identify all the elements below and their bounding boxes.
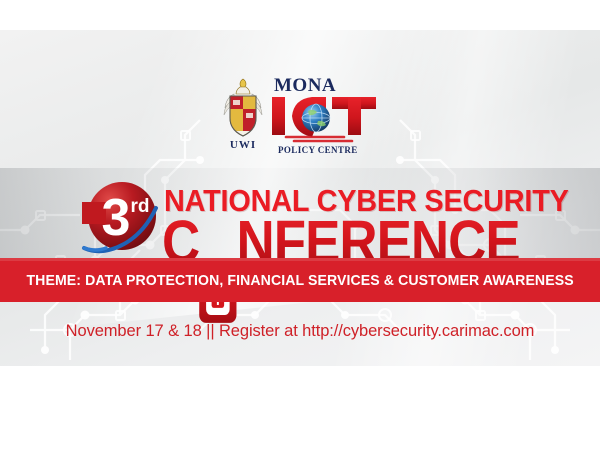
mona-ict-policy-centre-logo: UWI MONA: [0, 76, 600, 156]
headline: NATIONAL CYBER SECURITY CNFERENCE: [160, 164, 540, 268]
ict-letters: [268, 93, 380, 145]
svg-text:3: 3: [102, 189, 131, 247]
uwi-coat-of-arms-icon: UWI: [220, 76, 266, 152]
theme-text: THEME: DATA PROTECTION, FINANCIAL SERVIC…: [26, 272, 573, 289]
policy-centre-label: POLICY CENTRE: [278, 146, 358, 155]
svg-text:rd: rd: [131, 196, 150, 217]
ict-wordmark: MONA: [268, 76, 380, 156]
uwi-crest: UWI: [220, 76, 266, 152]
third-edition-badge: 3 rd: [76, 178, 164, 260]
conference-flyer: UWI MONA: [0, 30, 600, 366]
registration-line: November 17 & 18 || Register at http://c…: [0, 322, 600, 341]
svg-text:UWI: UWI: [230, 139, 256, 151]
theme-banner: THEME: DATA PROTECTION, FINANCIAL SERVIC…: [0, 258, 600, 302]
conference-title-block: 3 rd NATIONAL CYBER SECURITY CNFERENCE: [0, 164, 600, 268]
